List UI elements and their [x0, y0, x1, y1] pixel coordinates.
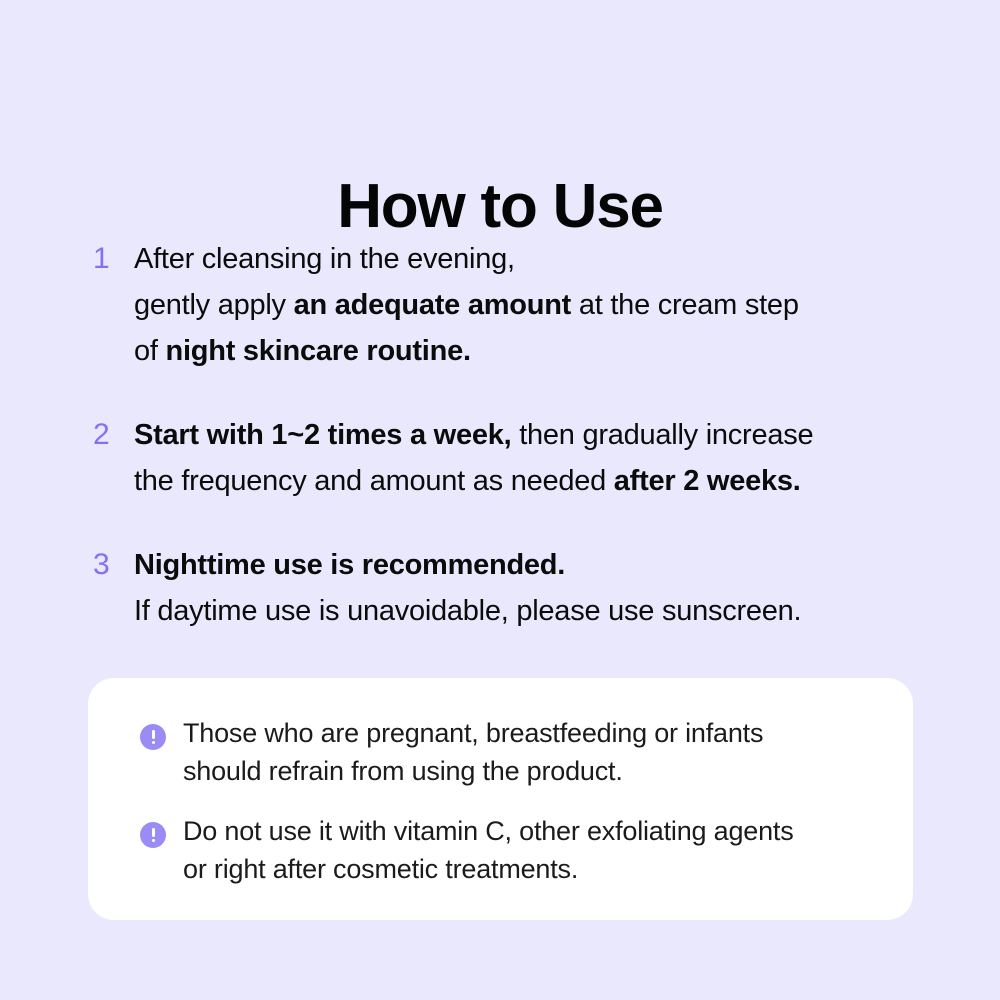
step-text-segment: at the cream step: [571, 289, 799, 321]
step-text-segment: the frequency and amount as needed: [134, 465, 614, 497]
notice-text: Those who are pregnant, breastfeeding or…: [183, 714, 869, 790]
step-text-line: the frequency and amount as needed after…: [134, 458, 953, 504]
step-text-emphasis: after 2 weeks.: [614, 465, 801, 497]
step-text-line: of night skincare routine.: [134, 328, 953, 374]
how-to-use-page: How to Use 1After cleansing in the eveni…: [0, 0, 1000, 1000]
exclamation-circle-icon: [140, 822, 166, 848]
exclamation-circle-icon: [140, 724, 166, 750]
notice-card: Those who are pregnant, breastfeeding or…: [88, 678, 913, 920]
steps-list: 1After cleansing in the evening,gently a…: [93, 236, 953, 634]
step-text-segment: gently apply: [134, 289, 294, 321]
step-text: Start with 1~2 times a week, then gradua…: [134, 412, 953, 504]
step-text-segment: of: [134, 335, 166, 367]
step-number: 2: [93, 412, 134, 458]
step-text-segment: If daytime use is unavoidable, please us…: [134, 595, 801, 627]
step-text-line: Nighttime use is recommended.: [134, 542, 953, 588]
notice-text-line: Do not use it with vitamin C, other exfo…: [183, 812, 869, 850]
step-text: Nighttime use is recommended.If daytime …: [134, 542, 953, 634]
step-text-line: Start with 1~2 times a week, then gradua…: [134, 412, 953, 458]
step-item: 2Start with 1~2 times a week, then gradu…: [93, 412, 953, 504]
step-number: 3: [93, 542, 134, 588]
notice-text: Do not use it with vitamin C, other exfo…: [183, 812, 869, 888]
step-number: 1: [93, 236, 134, 282]
step-text-line: If daytime use is unavoidable, please us…: [134, 588, 953, 634]
step-text-emphasis: night skincare routine.: [166, 335, 471, 367]
notice-text-line: should refrain from using the product.: [183, 752, 869, 790]
step-text-segment: then gradually increase: [511, 419, 813, 451]
step-text-segment: After cleansing in the evening,: [134, 243, 515, 275]
step-text-emphasis: Nighttime use is recommended.: [134, 549, 565, 581]
step-item: 1After cleansing in the evening,gently a…: [93, 236, 953, 374]
step-text-line: gently apply an adequate amount at the c…: [134, 282, 953, 328]
step-text: After cleansing in the evening,gently ap…: [134, 236, 953, 374]
page-title: How to Use: [0, 168, 1000, 246]
step-text-line: After cleansing in the evening,: [134, 236, 953, 282]
step-item: 3Nighttime use is recommended.If daytime…: [93, 542, 953, 634]
notice-item: Those who are pregnant, breastfeeding or…: [140, 714, 869, 790]
notice-text-line: or right after cosmetic treatments.: [183, 850, 869, 888]
step-text-emphasis: Start with 1~2 times a week,: [134, 419, 511, 451]
notice-item: Do not use it with vitamin C, other exfo…: [140, 812, 869, 888]
notice-text-line: Those who are pregnant, breastfeeding or…: [183, 714, 869, 752]
step-text-emphasis: an adequate amount: [294, 289, 572, 321]
